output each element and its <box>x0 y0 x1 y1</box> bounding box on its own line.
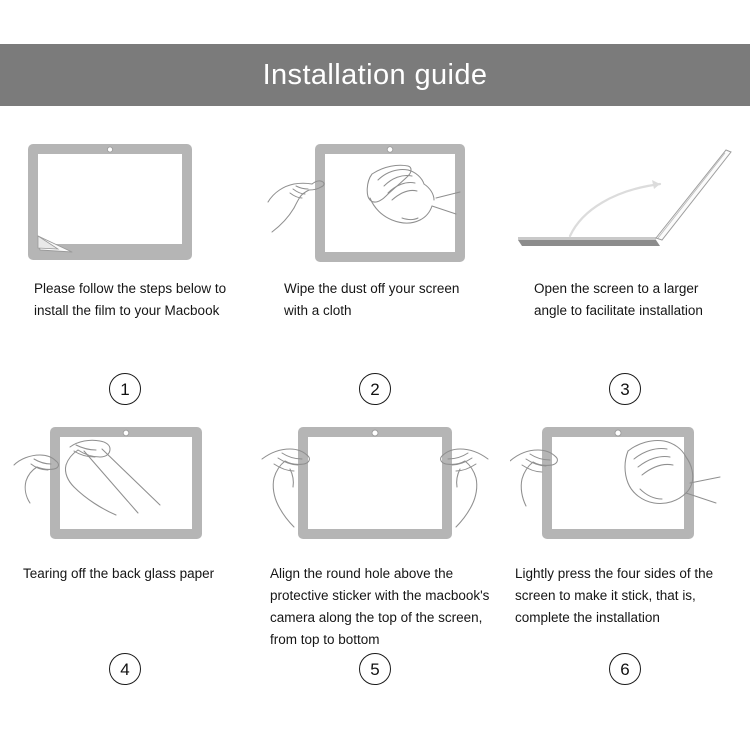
step-caption-2: Wipe the dust off your screen with a clo… <box>270 278 480 322</box>
step-caption-6: Lightly press the four sides of the scre… <box>507 563 743 629</box>
illustration-press-four-sides <box>510 421 740 551</box>
step-number-4: 4 <box>109 653 141 685</box>
illustration-align-film-two-hands <box>260 421 490 551</box>
step-caption-3: Open the screen to a larger angle to fac… <box>520 278 730 322</box>
step-number-1: 1 <box>109 373 141 405</box>
illustration-wipe-screen-cloth <box>260 136 490 266</box>
step-card-2: Wipe the dust off your screen with a clo… <box>250 128 500 413</box>
step-number-6: 6 <box>609 653 641 685</box>
header-banner: Installation guide <box>0 44 750 106</box>
step-number-2: 2 <box>359 373 391 405</box>
step-card-3: Open the screen to a larger angle to fac… <box>500 128 750 413</box>
step-number-5: 5 <box>359 653 391 685</box>
step-caption-1: Please follow the steps below to install… <box>20 278 230 322</box>
steps-row-bottom: Tearing off the back glass paper 4 <box>0 413 750 703</box>
steps-row-top: Please follow the steps below to install… <box>0 128 750 413</box>
step-card-6: Lightly press the four sides of the scre… <box>500 413 750 703</box>
page-title: Installation guide <box>263 61 488 90</box>
step-number-3: 3 <box>609 373 641 405</box>
illustration-screen-peeling-corner <box>10 136 240 266</box>
installation-guide-page: Installation guide <box>0 0 750 750</box>
step-card-4: Tearing off the back glass paper 4 <box>0 413 250 703</box>
illustration-tear-back-paper <box>10 421 240 551</box>
step-caption-5: Align the round hole above the protectiv… <box>260 563 490 650</box>
step-card-5: Align the round hole above the protectiv… <box>250 413 500 703</box>
step-card-1: Please follow the steps below to install… <box>0 128 250 413</box>
step-caption-4: Tearing off the back glass paper <box>13 563 237 585</box>
illustration-laptop-open-angle <box>510 136 740 266</box>
steps-grid: Please follow the steps below to install… <box>0 128 750 703</box>
